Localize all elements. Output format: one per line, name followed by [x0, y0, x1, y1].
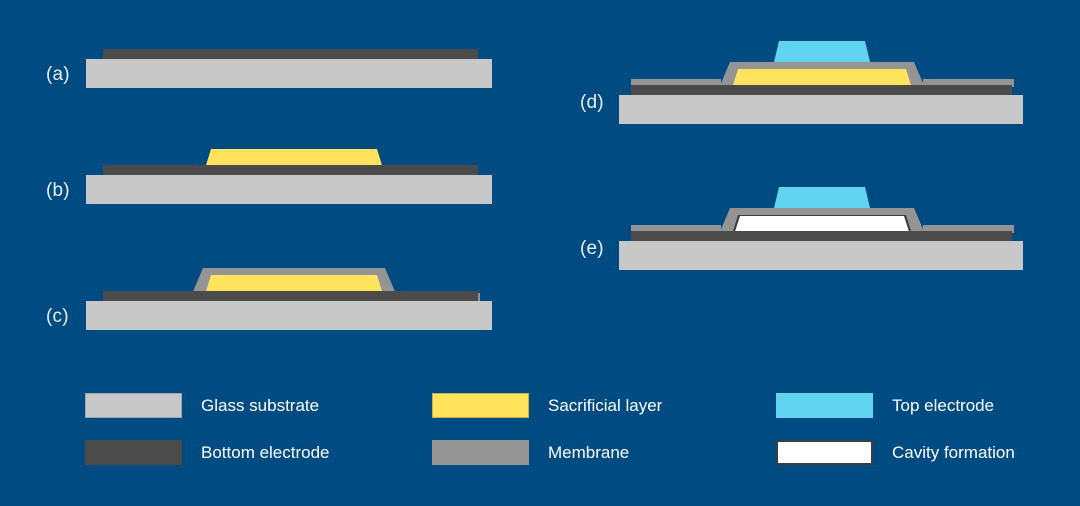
panel-d-label: (d): [580, 92, 604, 114]
figure-canvas: (a) (b) (c) (d): [0, 0, 1080, 506]
legend-item-bottom-electrode[interactable]: Bottom electrode: [85, 440, 330, 465]
panel-e-glass-substrate: [619, 241, 1023, 270]
legend-label-bottom-electrode: Bottom electrode: [201, 443, 330, 463]
legend-swatch-cavity-formation: [776, 440, 873, 465]
panel-b-glass-substrate: [86, 175, 492, 204]
legend-label-membrane: Membrane: [548, 443, 629, 463]
panel-b-bottom-electrode: [103, 165, 478, 175]
legend-label-cavity-formation: Cavity formation: [892, 443, 1015, 463]
panel-d-glass-substrate: [619, 95, 1023, 124]
panel-d-bottom-electrode: [631, 85, 1012, 95]
legend-swatch-sacrificial-layer: [432, 393, 529, 418]
legend-swatch-membrane: [432, 440, 529, 465]
legend-item-top-electrode[interactable]: Top electrode: [776, 393, 994, 418]
panel-a-label: (a): [46, 64, 70, 86]
panel-e-top-electrode: [774, 187, 870, 208]
legend-swatch-glass-substrate: [85, 393, 182, 418]
legend-label-top-electrode: Top electrode: [892, 396, 994, 416]
panel-e-bottom-electrode: [631, 231, 1012, 241]
panel-e-label: (e): [580, 238, 604, 260]
legend-item-glass-substrate[interactable]: Glass substrate: [85, 393, 319, 418]
panel-a-bottom-electrode: [103, 49, 478, 59]
legend-item-membrane[interactable]: Membrane: [432, 440, 629, 465]
panel-d-top-electrode: [774, 41, 870, 62]
legend-item-sacrificial-layer[interactable]: Sacrificial layer: [432, 393, 662, 418]
legend-swatch-top-electrode: [776, 393, 873, 418]
panel-a-glass-substrate: [86, 59, 492, 88]
legend-label-glass-substrate: Glass substrate: [201, 396, 319, 416]
legend-item-cavity-formation[interactable]: Cavity formation: [776, 440, 1015, 465]
panel-c-label: (c): [46, 306, 69, 328]
panel-c-glass-substrate: [86, 301, 492, 330]
legend-label-sacrificial-layer: Sacrificial layer: [548, 396, 662, 416]
panel-c-bottom-electrode: [103, 291, 478, 301]
legend-swatch-bottom-electrode: [85, 440, 182, 465]
panel-b-label: (b): [46, 180, 70, 202]
